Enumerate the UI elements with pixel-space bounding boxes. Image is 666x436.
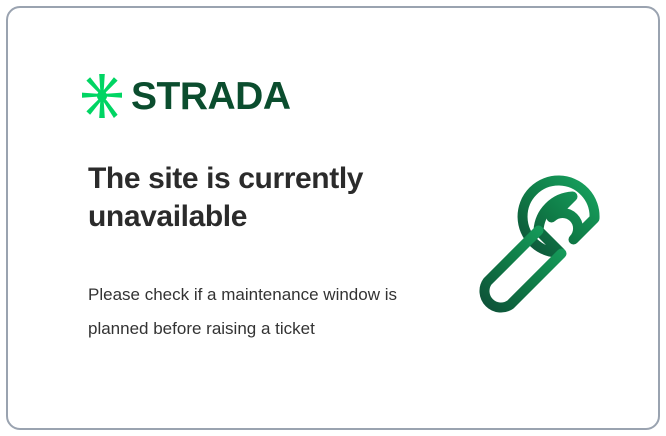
status-card: STRADA The site is currently unavailable…: [6, 6, 660, 430]
brand-wordmark: STRADA: [131, 77, 291, 116]
asterisk-starburst-icon: [82, 74, 122, 118]
wrench-icon: [463, 163, 625, 321]
page-title: The site is currently unavailable: [88, 160, 418, 236]
brand-lockup: STRADA: [82, 74, 291, 118]
status-description: Please check if a maintenance window is …: [88, 278, 398, 346]
page-root: STRADA The site is currently unavailable…: [0, 0, 666, 436]
